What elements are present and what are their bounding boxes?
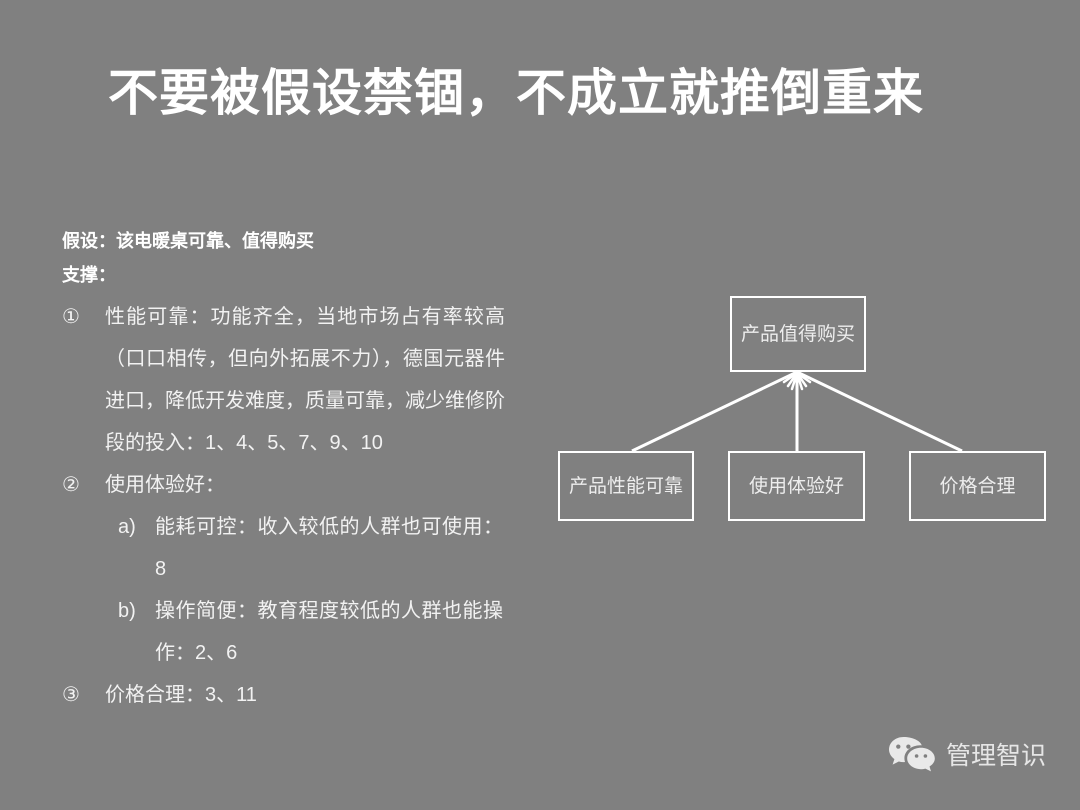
- list-item-marker: a): [118, 506, 155, 548]
- list-item: ③ 价格合理：3、11: [62, 674, 522, 716]
- list-item-marker: ②: [62, 464, 105, 506]
- page-title: 不要被假设禁锢，不成立就推倒重来: [108, 62, 988, 124]
- list-item-marker: ③: [62, 674, 105, 716]
- list-item-marker: ①: [62, 296, 105, 338]
- list-item-text: 性能可靠：功能齐全，当地市场占有率较高（口口相传，但向外拓展不力），德国元器件进…: [105, 296, 505, 464]
- logic-tree-diagram: 产品值得购买 产品性能可靠 使用体验好 价格合理: [540, 285, 1070, 535]
- diagram-node-price: 价格合理: [909, 451, 1046, 521]
- watermark-label: 管理智识: [946, 740, 1046, 772]
- diagram-node-experience: 使用体验好: [728, 451, 865, 521]
- list-item-text: 操作简便：教育程度较低的人群也能操作：2、6: [155, 590, 503, 674]
- slide-canvas: 不要被假设禁锢，不成立就推倒重来 假设：该电暖桌可靠、值得购买 支撑： ① 性能…: [0, 0, 1080, 810]
- connector-line-right: [797, 372, 962, 451]
- list-item: ① 性能可靠：功能齐全，当地市场占有率较高（口口相传，但向外拓展不力），德国元器…: [62, 296, 522, 464]
- watermark: 管理智识: [888, 735, 1046, 777]
- wechat-icon: [888, 735, 936, 777]
- diagram-node-performance: 产品性能可靠: [558, 451, 694, 521]
- support-label: 支撑：: [62, 258, 522, 292]
- list-item-text: 能耗可控：收入较低的人群也可使用：8: [155, 506, 503, 590]
- assumption-line: 假设：该电暖桌可靠、值得购买: [62, 224, 522, 258]
- list-item-text: 价格合理：3、11: [105, 674, 505, 716]
- list-item: b) 操作简便：教育程度较低的人群也能操作：2、6: [62, 590, 522, 674]
- diagram-node-top: 产品值得购买: [730, 296, 866, 372]
- list-item-text: 使用体验好：: [105, 464, 505, 506]
- list-item: a) 能耗可控：收入较低的人群也可使用：8: [62, 506, 522, 590]
- list-item: ② 使用体验好：: [62, 464, 522, 506]
- support-outline-list: ① 性能可靠：功能齐全，当地市场占有率较高（口口相传，但向外拓展不力），德国元器…: [62, 296, 522, 716]
- connector-line-left: [632, 372, 797, 451]
- content-text-column: 假设：该电暖桌可靠、值得购买 支撑： ① 性能可靠：功能齐全，当地市场占有率较高…: [62, 224, 522, 716]
- list-item-marker: b): [118, 590, 155, 632]
